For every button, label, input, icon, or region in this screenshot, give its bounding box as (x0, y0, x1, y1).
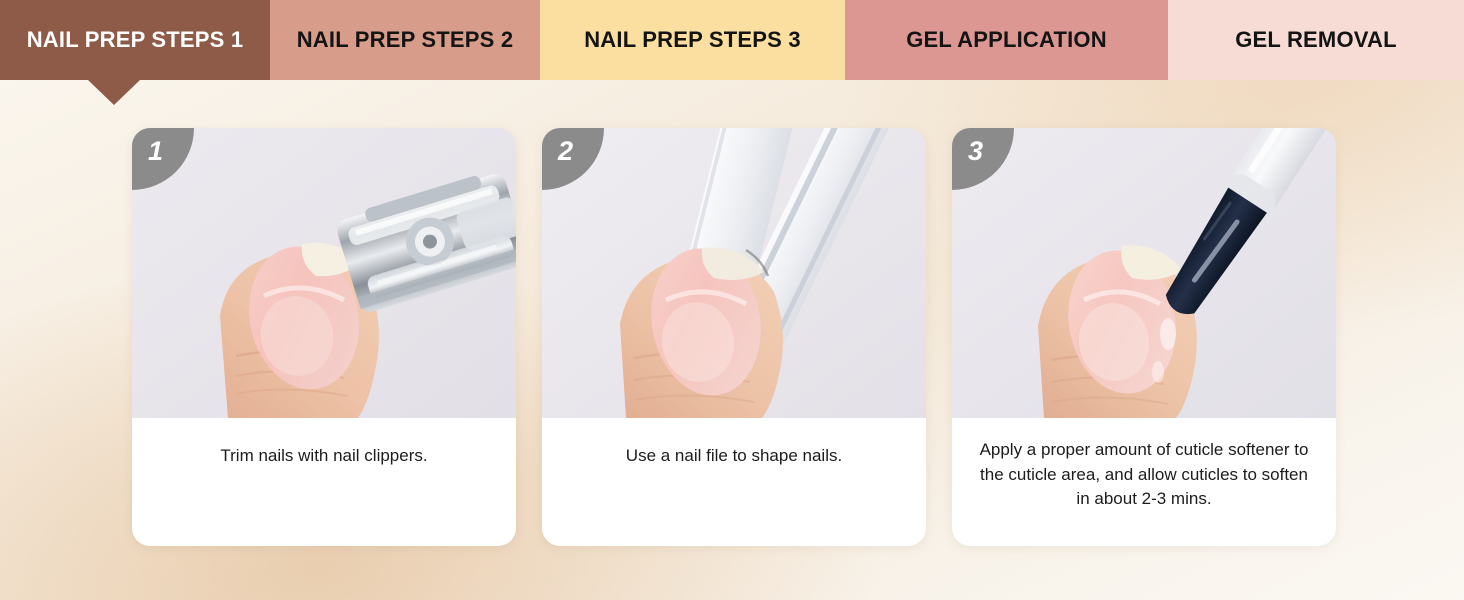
step-number: 2 (542, 128, 573, 165)
step-number: 3 (952, 128, 983, 165)
finger-with-nail-clipper-icon (132, 128, 516, 418)
step-caption: Trim nails with nail clippers. (132, 418, 516, 546)
step-card-list: 1 Trim nails with nail clippers. (132, 128, 1337, 546)
tab-nail-prep-steps-2[interactable]: NAIL PREP STEPS 2 (270, 0, 540, 80)
step-caption: Use a nail file to shape nails. (542, 418, 926, 546)
tab-label: GEL REMOVAL (1235, 27, 1397, 53)
tab-nail-prep-steps-1[interactable]: NAIL PREP STEPS 1 (0, 0, 270, 80)
tab-label: NAIL PREP STEPS 2 (297, 27, 514, 53)
tab-gel-application[interactable]: GEL APPLICATION (845, 0, 1168, 80)
step-photo: 3 (952, 128, 1336, 418)
step-card[interactable]: 1 Trim nails with nail clippers. (132, 128, 516, 546)
tab-label: NAIL PREP STEPS 3 (584, 27, 801, 53)
step-photo: 2 (542, 128, 926, 418)
finger-with-cuticle-softener-brush-icon (952, 128, 1336, 418)
step-photo: 1 (132, 128, 516, 418)
nail-prep-instruction-page: NAIL PREP STEPS 1 NAIL PREP STEPS 2 NAIL… (0, 0, 1464, 600)
tab-gel-removal[interactable]: GEL REMOVAL (1168, 0, 1464, 80)
step-number: 1 (132, 128, 163, 165)
tab-label: GEL APPLICATION (906, 27, 1107, 53)
step-card[interactable]: 3 Apply a proper amount of cuticle softe… (952, 128, 1336, 546)
finger-with-nail-file-icon (542, 128, 926, 418)
step-caption: Apply a proper amount of cuticle softene… (952, 418, 1336, 546)
tab-label: NAIL PREP STEPS 1 (27, 27, 244, 53)
tab-bar: NAIL PREP STEPS 1 NAIL PREP STEPS 2 NAIL… (0, 0, 1464, 80)
active-tab-pointer-triangle (88, 80, 140, 105)
tab-nail-prep-steps-3[interactable]: NAIL PREP STEPS 3 (540, 0, 845, 80)
step-card[interactable]: 2 Use a nail file to shape nails. (542, 128, 926, 546)
